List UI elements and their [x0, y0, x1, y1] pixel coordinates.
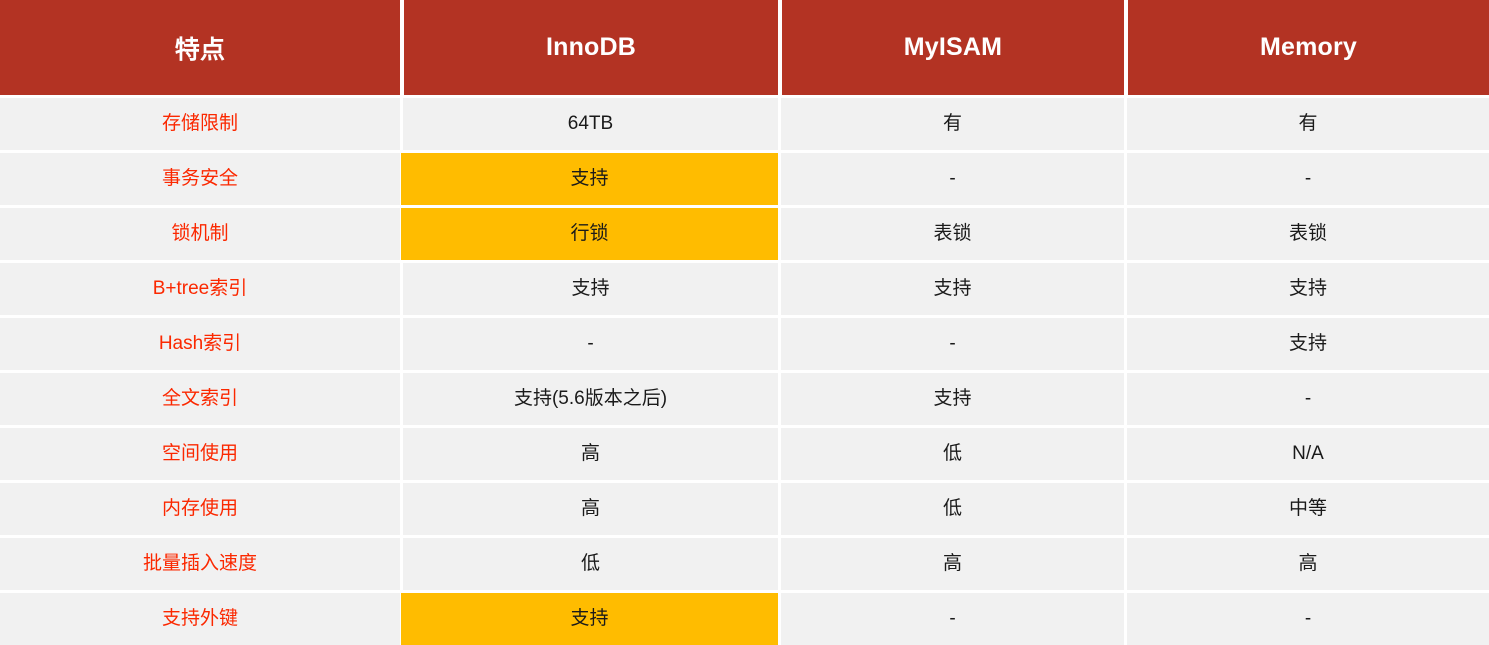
column-header-feature: 特点	[0, 0, 400, 95]
feature-label: 批量插入速度	[0, 538, 400, 590]
value-cell-innodb: 低	[400, 535, 778, 590]
table-row: 空间使用高低N/A	[0, 425, 1489, 480]
value-cell-memory: -	[1124, 590, 1489, 645]
value-text: -	[1127, 373, 1489, 425]
table-row: B+tree索引支持支持支持	[0, 260, 1489, 315]
feature-label: 存储限制	[0, 98, 400, 150]
value-text: 表锁	[781, 208, 1124, 260]
table-row: 全文索引支持(5.6版本之后)支持-	[0, 370, 1489, 425]
value-text: -	[781, 318, 1124, 370]
value-cell-myisam: -	[778, 590, 1124, 645]
value-cell-memory: 支持	[1124, 315, 1489, 370]
value-cell-memory: -	[1124, 370, 1489, 425]
table-row: 批量插入速度低高高	[0, 535, 1489, 590]
feature-cell: Hash索引	[0, 315, 400, 370]
table-row: 锁机制行锁表锁表锁	[0, 205, 1489, 260]
value-cell-myisam: 低	[778, 425, 1124, 480]
value-text: 有	[781, 98, 1124, 150]
table-row: 事务安全支持--	[0, 150, 1489, 205]
feature-label: Hash索引	[0, 318, 400, 370]
value-cell-myisam: -	[778, 150, 1124, 205]
value-cell-innodb: 支持	[400, 150, 778, 205]
value-cell-innodb: 高	[400, 425, 778, 480]
value-text: 高	[403, 428, 778, 480]
value-cell-myisam: 高	[778, 535, 1124, 590]
column-header-myisam: MyISAM	[778, 0, 1124, 95]
value-text: -	[1127, 153, 1489, 205]
feature-label: 空间使用	[0, 428, 400, 480]
value-text: 行锁	[401, 208, 778, 260]
feature-label: 内存使用	[0, 483, 400, 535]
value-text: 支持	[401, 153, 778, 205]
value-cell-innodb: 支持	[400, 590, 778, 645]
value-cell-innodb: 高	[400, 480, 778, 535]
value-cell-innodb: 支持(5.6版本之后)	[400, 370, 778, 425]
feature-cell: 支持外键	[0, 590, 400, 645]
value-text: N/A	[1127, 428, 1489, 480]
value-text: 支持	[1127, 318, 1489, 370]
value-cell-myisam: 有	[778, 95, 1124, 150]
value-text: -	[781, 153, 1124, 205]
storage-engine-comparison-table: 特点 InnoDB MyISAM Memory 存储限制64TB有有事务安全支持…	[0, 0, 1489, 645]
table-row: Hash索引--支持	[0, 315, 1489, 370]
feature-label: 事务安全	[0, 153, 400, 205]
value-text: 64TB	[403, 98, 778, 150]
value-cell-innodb: 64TB	[400, 95, 778, 150]
value-cell-memory: 高	[1124, 535, 1489, 590]
value-text: 支持	[781, 373, 1124, 425]
value-cell-memory: 有	[1124, 95, 1489, 150]
value-text: 低	[781, 483, 1124, 535]
feature-cell: 锁机制	[0, 205, 400, 260]
feature-cell: 批量插入速度	[0, 535, 400, 590]
feature-cell: 存储限制	[0, 95, 400, 150]
value-cell-memory: -	[1124, 150, 1489, 205]
value-cell-myisam: 支持	[778, 260, 1124, 315]
value-cell-myisam: 支持	[778, 370, 1124, 425]
feature-cell: 内存使用	[0, 480, 400, 535]
feature-label: 锁机制	[0, 208, 400, 260]
value-text: 表锁	[1127, 208, 1489, 260]
value-text: 支持	[781, 263, 1124, 315]
feature-label: B+tree索引	[0, 263, 400, 315]
value-text: 高	[403, 483, 778, 535]
table-row: 存储限制64TB有有	[0, 95, 1489, 150]
table-header: 特点 InnoDB MyISAM Memory	[0, 0, 1489, 95]
value-text: 支持	[403, 263, 778, 315]
value-text: 支持(5.6版本之后)	[403, 373, 778, 425]
value-cell-memory: 支持	[1124, 260, 1489, 315]
value-text: 有	[1127, 98, 1489, 150]
value-text: 支持	[1127, 263, 1489, 315]
feature-cell: 事务安全	[0, 150, 400, 205]
value-cell-myisam: 低	[778, 480, 1124, 535]
value-text: 中等	[1127, 483, 1489, 535]
feature-cell: 空间使用	[0, 425, 400, 480]
value-text: -	[403, 318, 778, 370]
value-text: 高	[781, 538, 1124, 590]
value-cell-memory: 表锁	[1124, 205, 1489, 260]
value-cell-myisam: -	[778, 315, 1124, 370]
value-cell-memory: 中等	[1124, 480, 1489, 535]
value-cell-myisam: 表锁	[778, 205, 1124, 260]
table-body: 存储限制64TB有有事务安全支持--锁机制行锁表锁表锁B+tree索引支持支持支…	[0, 95, 1489, 645]
table-row: 支持外键支持--	[0, 590, 1489, 645]
feature-cell: 全文索引	[0, 370, 400, 425]
value-cell-innodb: 行锁	[400, 205, 778, 260]
header-row: 特点 InnoDB MyISAM Memory	[0, 0, 1489, 95]
value-text: 低	[403, 538, 778, 590]
column-header-innodb: InnoDB	[400, 0, 778, 95]
column-header-memory: Memory	[1124, 0, 1489, 95]
table-row: 内存使用高低中等	[0, 480, 1489, 535]
value-text: 低	[781, 428, 1124, 480]
value-text: 高	[1127, 538, 1489, 590]
feature-label: 全文索引	[0, 373, 400, 425]
value-cell-memory: N/A	[1124, 425, 1489, 480]
value-cell-innodb: 支持	[400, 260, 778, 315]
feature-cell: B+tree索引	[0, 260, 400, 315]
value-cell-innodb: -	[400, 315, 778, 370]
